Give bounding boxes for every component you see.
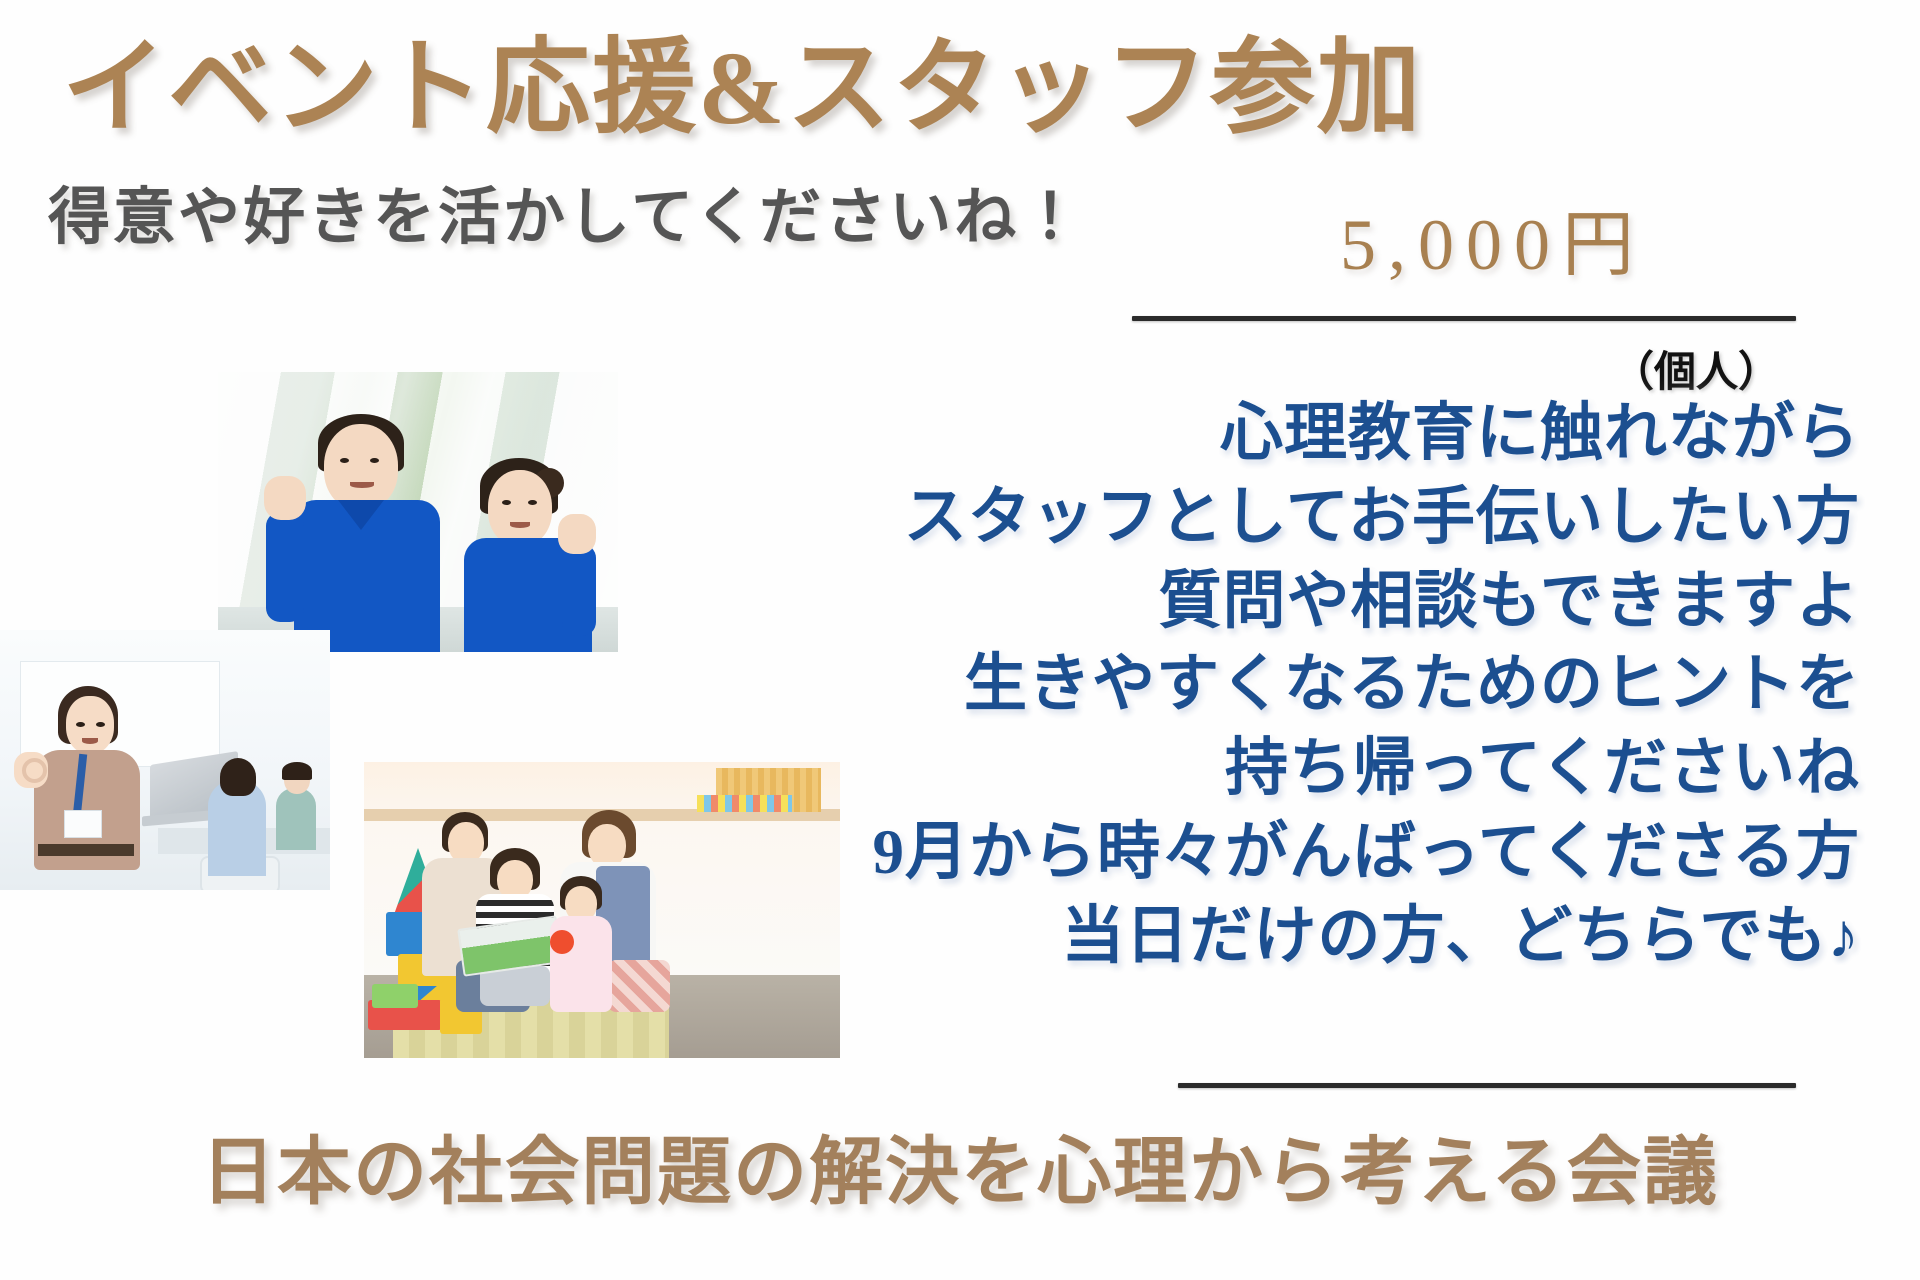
photo-staff-cheering xyxy=(218,372,618,652)
body-underline-divider xyxy=(1178,1083,1796,1088)
presenter-smile xyxy=(82,738,98,744)
poster-canvas: イベント応援&スタッフ参加 得意や好きを活かしてくださいね！ 5,000円 （個… xyxy=(0,0,1920,1280)
footer-title: 日本の社会問題の解決を心理から考える会議 xyxy=(0,1112,1920,1219)
woman-eye-left xyxy=(502,500,511,505)
man-raised-arm xyxy=(266,512,304,622)
description-line-4: 生きやすくなるためのヒントを xyxy=(520,643,1860,727)
ok-gesture-ring xyxy=(22,758,47,783)
price-value: 5,000円 xyxy=(1340,185,1646,290)
mother-right-skirt xyxy=(608,960,670,1012)
attendee-background-hair xyxy=(282,762,312,780)
woman-fist xyxy=(558,514,596,554)
attendee-background xyxy=(276,788,316,850)
presenter-eye-left xyxy=(76,722,85,727)
page-title: イベント応援&スタッフ参加 xyxy=(62,34,1423,143)
photo-playroom-parents-children xyxy=(364,762,840,1058)
man-fist xyxy=(264,476,306,520)
woman-eye-right xyxy=(528,500,537,505)
red-ball-toy xyxy=(550,930,574,954)
picture-books-row xyxy=(697,795,792,813)
page-subtitle: 得意や好きを活かしてくださいね！ xyxy=(48,166,1084,256)
man-eye-right xyxy=(370,458,379,463)
presenter-head xyxy=(66,696,114,754)
price-underline-divider xyxy=(1132,316,1796,321)
description-line-3: 質問や相談もできますよ xyxy=(520,560,1860,644)
price-note: （個人） xyxy=(1612,338,1780,399)
presenter-belt xyxy=(38,844,134,856)
photo-seminar-presenter xyxy=(0,630,330,890)
woman-head xyxy=(488,470,552,546)
man-smile xyxy=(350,482,374,488)
toy-block-green xyxy=(372,984,418,1008)
name-badge xyxy=(64,810,102,838)
presenter-eye-right xyxy=(96,722,105,727)
woman-smile xyxy=(510,522,530,528)
description-line-2: スタッフとしてお手伝いしたい方 xyxy=(520,476,1860,560)
description-line-1: 心理教育に触れながら xyxy=(520,392,1860,476)
woman-raised-arm xyxy=(562,544,596,636)
attendee-head xyxy=(220,758,256,796)
man-eye-left xyxy=(340,458,349,463)
man-head xyxy=(324,424,398,510)
